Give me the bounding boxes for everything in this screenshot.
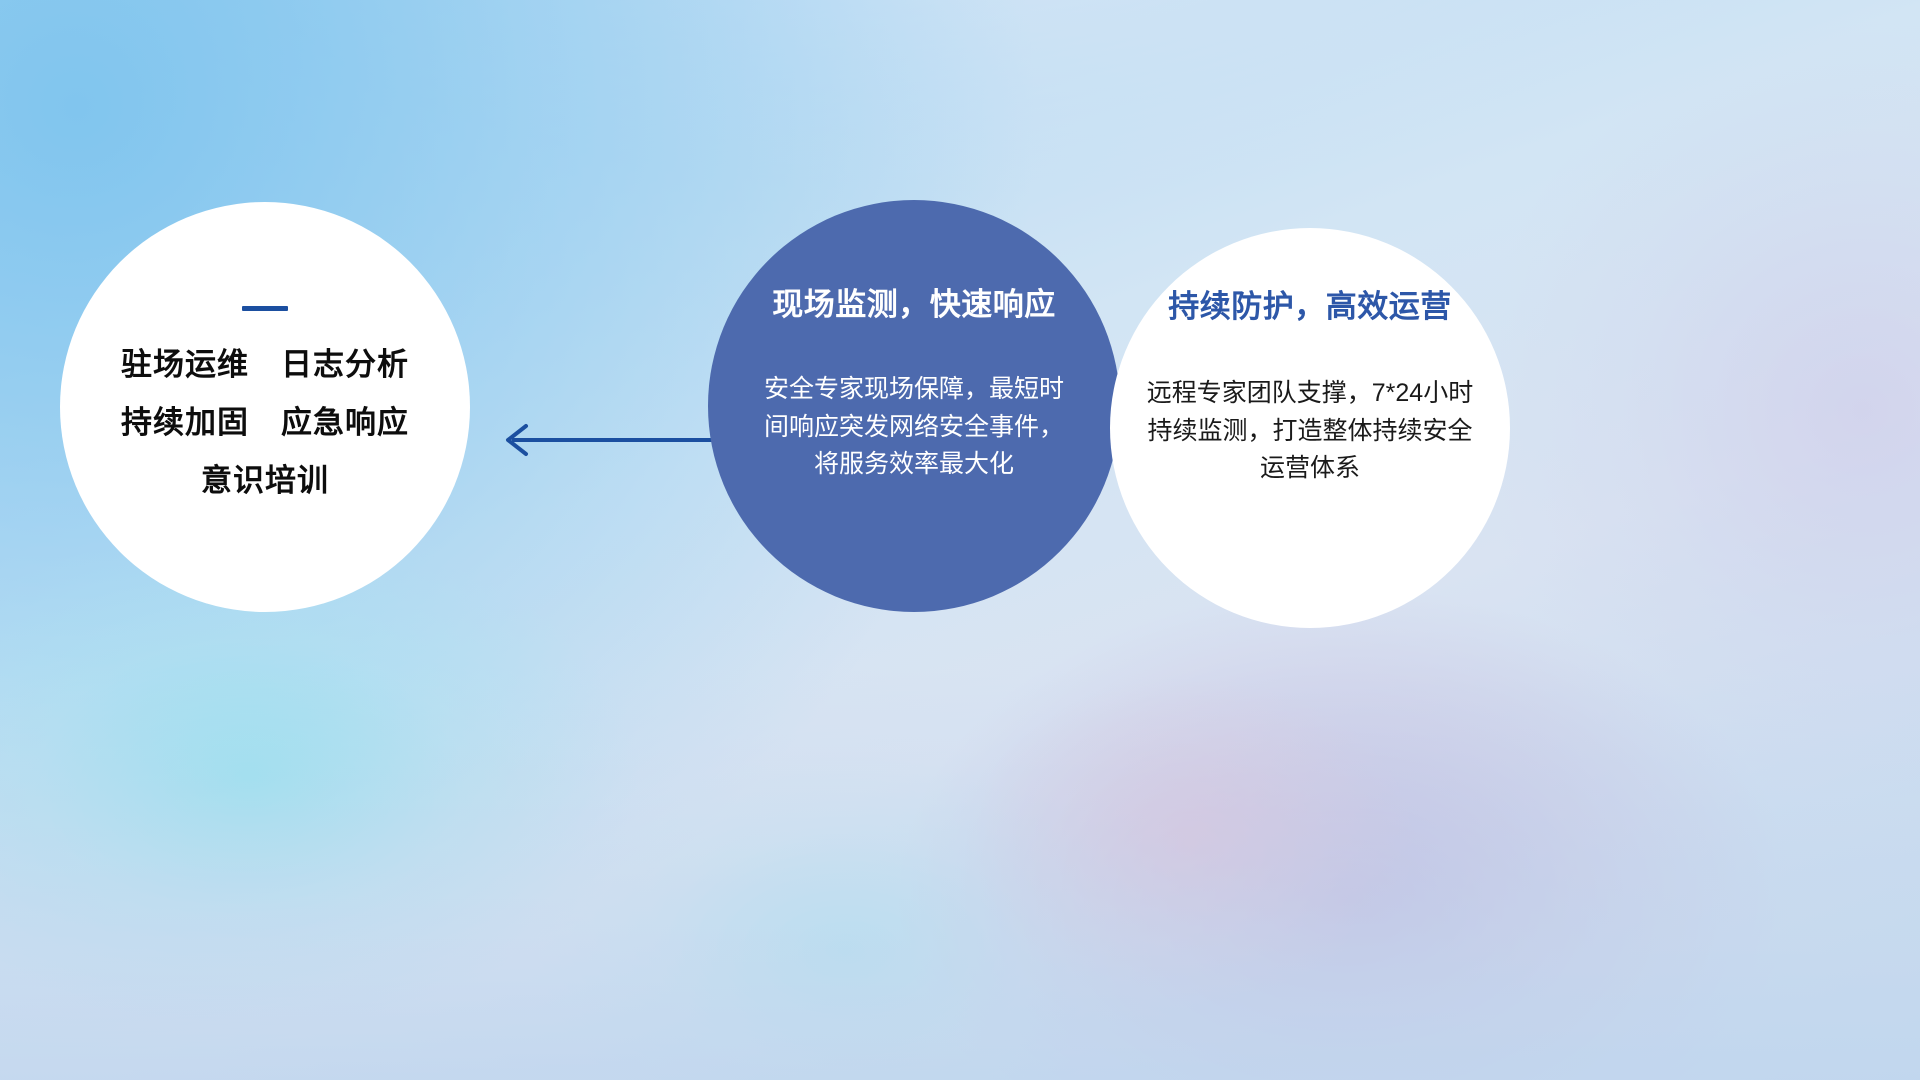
- continuous-protection-body: 远程专家团队支撑，7*24小时持续监测，打造整体持续安全运营体系: [1142, 375, 1478, 488]
- slide-canvas: 驻场运维 日志分析 持续加固 应急响应 意识培训 现场监测，快速响应 安全专家现…: [0, 0, 1920, 1080]
- onsite-monitoring-heading: 现场监测，快速响应: [772, 286, 1056, 323]
- capability-line-3: 意识培训: [201, 465, 329, 496]
- capability-line-1: 驻场运维 日志分析: [121, 349, 409, 380]
- capability-line-2: 持续加固 应急响应: [121, 407, 409, 438]
- continuous-protection-heading: 持续防护，高效运营: [1168, 288, 1452, 325]
- onsite-monitoring-circle: 现场监测，快速响应 安全专家现场保障，最短时间响应突发网络安全事件，将服务效率最…: [708, 200, 1120, 612]
- flow-arrow-left-icon: [492, 420, 714, 460]
- divider-dash-icon: [242, 306, 288, 311]
- onsite-monitoring-body: 安全专家现场保障，最短时间响应突发网络安全事件，将服务效率最大化: [754, 371, 1074, 484]
- continuous-protection-circle: 持续防护，高效运营 远程专家团队支撑，7*24小时持续监测，打造整体持续安全运营…: [1110, 228, 1510, 628]
- service-capabilities-circle: 驻场运维 日志分析 持续加固 应急响应 意识培训: [60, 202, 470, 612]
